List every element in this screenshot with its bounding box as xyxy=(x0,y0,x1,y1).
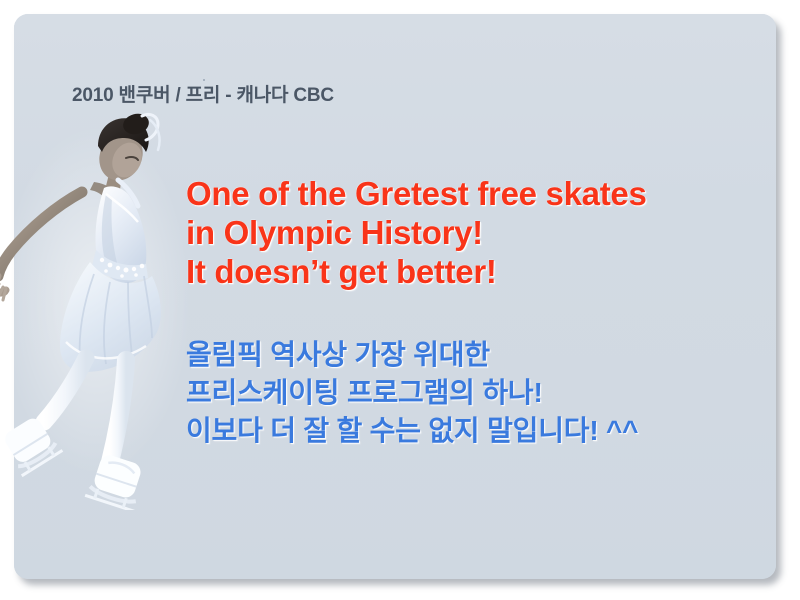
korean-headline: 올림픽 역사상 가장 위대한 프리스케이팅 프로그램의 하나! 이보다 더 잘 … xyxy=(186,336,726,450)
korean-headline-line-1: 올림픽 역사상 가장 위대한 xyxy=(186,336,726,374)
english-headline-line-1: One of the Gretest free skates xyxy=(186,174,686,213)
header-caption: 2010 밴쿠버 / 프리 - 캐나다 CBC xyxy=(72,80,334,107)
english-headline: One of the Gretest free skates in Olympi… xyxy=(186,174,686,291)
korean-headline-line-3: 이보다 더 잘 할 수는 없지 말입니다! ^^ xyxy=(186,412,726,450)
english-headline-line-3: It doesn’t get better! xyxy=(186,252,686,291)
slide-stage: 2010 밴쿠버 / 프리 - 캐나다 CBC One of the Grete… xyxy=(0,0,800,600)
korean-headline-line-2: 프리스케이팅 프로그램의 하나! xyxy=(186,374,726,412)
english-headline-line-2: in Olympic History! xyxy=(186,213,686,252)
